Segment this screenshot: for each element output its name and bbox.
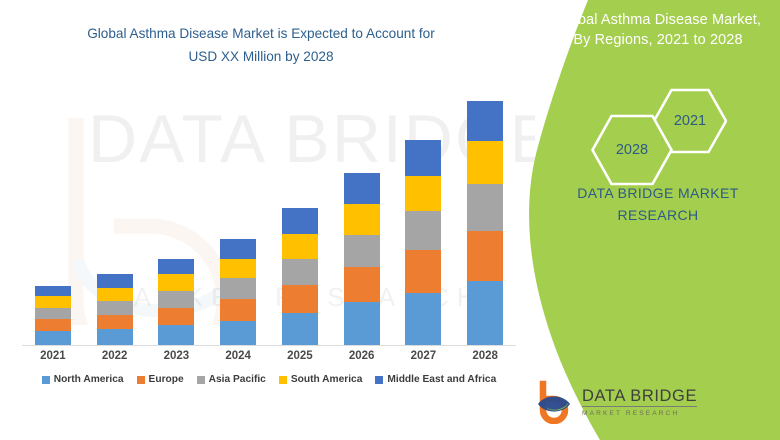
panel-title-line-1: Global Asthma Disease Market, (547, 10, 769, 30)
brand-logo-tagline: MARKET RESEARCH (582, 407, 697, 419)
stacked-bar-2024 (220, 239, 256, 345)
bar-segment-2027-europe (405, 250, 441, 293)
bar-segment-2023-europe (158, 308, 194, 326)
bar-column-2027 (393, 85, 455, 345)
legend-swatch-icon (42, 376, 50, 384)
chart-title-line-1: Global Asthma Disease Market is Expected… (26, 22, 496, 45)
bar-segment-2021-asia-pacific (35, 308, 71, 319)
bar-segment-2027-south-america (405, 176, 441, 211)
stacked-bar-2023 (158, 259, 194, 345)
bar-segment-2028-north-america (467, 281, 503, 345)
plot-area (22, 85, 516, 346)
x-tick-2022: 2022 (84, 350, 146, 362)
bar-segment-2024-north-america (220, 321, 256, 345)
legend-label: Europe (149, 374, 184, 385)
bar-segment-2027-middle-east-and-africa (405, 140, 441, 175)
hexagon-2028-label: 2028 (616, 142, 648, 158)
brand-logo-mark (532, 380, 576, 424)
panel-brand-line-1: DATA BRIDGE MARKET (547, 182, 769, 204)
bar-segment-2026-middle-east-and-africa (344, 173, 380, 203)
legend-label: South America (291, 374, 363, 385)
x-tick-2028: 2028 (454, 350, 516, 362)
x-axis-baseline (22, 345, 516, 346)
bar-segment-2022-north-america (97, 329, 133, 345)
bar-segment-2025-middle-east-and-africa (282, 208, 318, 234)
bar-segment-2025-south-america (282, 234, 318, 259)
legend-item-europe[interactable]: Europe (137, 374, 184, 385)
brand-logo-name: DATA BRIDGE (582, 388, 697, 407)
bar-segment-2028-europe (467, 231, 503, 281)
bar-column-2023 (146, 85, 208, 345)
chart-legend: North AmericaEuropeAsia PacificSouth Ame… (22, 374, 516, 385)
bar-column-2028 (454, 85, 516, 345)
stacked-bars (22, 85, 516, 345)
bar-column-2024 (207, 85, 269, 345)
stacked-bar-2021 (35, 286, 71, 345)
bar-segment-2025-asia-pacific (282, 259, 318, 285)
x-axis-tick-labels: 20212022202320242025202620272028 (22, 350, 516, 362)
legend-label: Middle East and Africa (387, 374, 496, 385)
hexagon-2028: 2028 (591, 114, 673, 186)
bar-segment-2027-asia-pacific (405, 211, 441, 251)
bar-segment-2026-south-america (344, 204, 380, 235)
infographic-canvas: DATA BRIDGE MARKET RESEARCH Global Asthm… (0, 0, 780, 440)
x-tick-2023: 2023 (146, 350, 208, 362)
bar-segment-2023-south-america (158, 274, 194, 291)
bar-segment-2027-north-america (405, 293, 441, 345)
brand-logo: DATA BRIDGE MARKET RESEARCH (532, 378, 702, 426)
bar-segment-2022-south-america (97, 288, 133, 302)
bar-segment-2026-north-america (344, 302, 380, 345)
bar-segment-2024-asia-pacific (220, 278, 256, 299)
x-tick-2024: 2024 (207, 350, 269, 362)
hexagon-group: 2021 2028 (557, 88, 772, 183)
legend-swatch-icon (279, 376, 287, 384)
bar-column-2026 (331, 85, 393, 345)
bar-segment-2021-north-america (35, 331, 71, 345)
bar-segment-2023-asia-pacific (158, 291, 194, 308)
legend-item-north-america[interactable]: North America (42, 374, 124, 385)
bar-segment-2021-middle-east-and-africa (35, 286, 71, 296)
legend-item-middle-east-and-africa[interactable]: Middle East and Africa (375, 374, 496, 385)
x-tick-2026: 2026 (331, 350, 393, 362)
bar-segment-2026-europe (344, 267, 380, 302)
bar-segment-2023-middle-east-and-africa (158, 259, 194, 275)
bar-segment-2022-asia-pacific (97, 301, 133, 315)
stacked-bar-2025 (282, 208, 318, 345)
panel-brand-text: DATA BRIDGE MARKET RESEARCH (547, 182, 769, 226)
bar-segment-2028-south-america (467, 141, 503, 184)
brand-logo-wordmark: DATA BRIDGE MARKET RESEARCH (582, 386, 697, 419)
bar-segment-2024-south-america (220, 259, 256, 279)
bar-segment-2022-europe (97, 315, 133, 330)
panel-brand-line-2: RESEARCH (547, 204, 769, 226)
x-tick-2027: 2027 (393, 350, 455, 362)
stacked-bar-2027 (405, 140, 441, 345)
green-panel-content: Global Asthma Disease Market, By Regions… (535, 0, 780, 440)
bar-segment-2023-north-america (158, 325, 194, 345)
legend-item-south-america[interactable]: South America (279, 374, 363, 385)
legend-swatch-icon (197, 376, 205, 384)
bar-column-2025 (269, 85, 331, 345)
stacked-bar-2028 (467, 101, 503, 345)
bar-segment-2025-europe (282, 285, 318, 313)
bar-segment-2028-asia-pacific (467, 184, 503, 231)
bar-segment-2024-europe (220, 299, 256, 321)
panel-title-line-2: By Regions, 2021 to 2028 (547, 30, 769, 50)
x-tick-2021: 2021 (22, 350, 84, 362)
bar-segment-2022-middle-east-and-africa (97, 274, 133, 288)
hexagon-2021-label: 2021 (674, 113, 706, 129)
stacked-bar-2022 (97, 274, 133, 345)
bar-column-2021 (22, 85, 84, 345)
bar-segment-2021-europe (35, 319, 71, 331)
bar-segment-2025-north-america (282, 313, 318, 345)
panel-title: Global Asthma Disease Market, By Regions… (547, 10, 769, 50)
legend-label: North America (54, 374, 124, 385)
bar-segment-2021-south-america (35, 296, 71, 307)
legend-label: Asia Pacific (209, 374, 266, 385)
legend-item-asia-pacific[interactable]: Asia Pacific (197, 374, 266, 385)
chart-title-line-2: USD XX Million by 2028 (26, 45, 496, 68)
x-tick-2025: 2025 (269, 350, 331, 362)
chart-title: Global Asthma Disease Market is Expected… (26, 22, 496, 68)
legend-swatch-icon (375, 376, 383, 384)
bar-column-2022 (84, 85, 146, 345)
stacked-bar-2026 (344, 173, 380, 345)
bar-segment-2028-middle-east-and-africa (467, 101, 503, 142)
bar-segment-2026-asia-pacific (344, 235, 380, 267)
legend-swatch-icon (137, 376, 145, 384)
bar-segment-2024-middle-east-and-africa (220, 239, 256, 259)
